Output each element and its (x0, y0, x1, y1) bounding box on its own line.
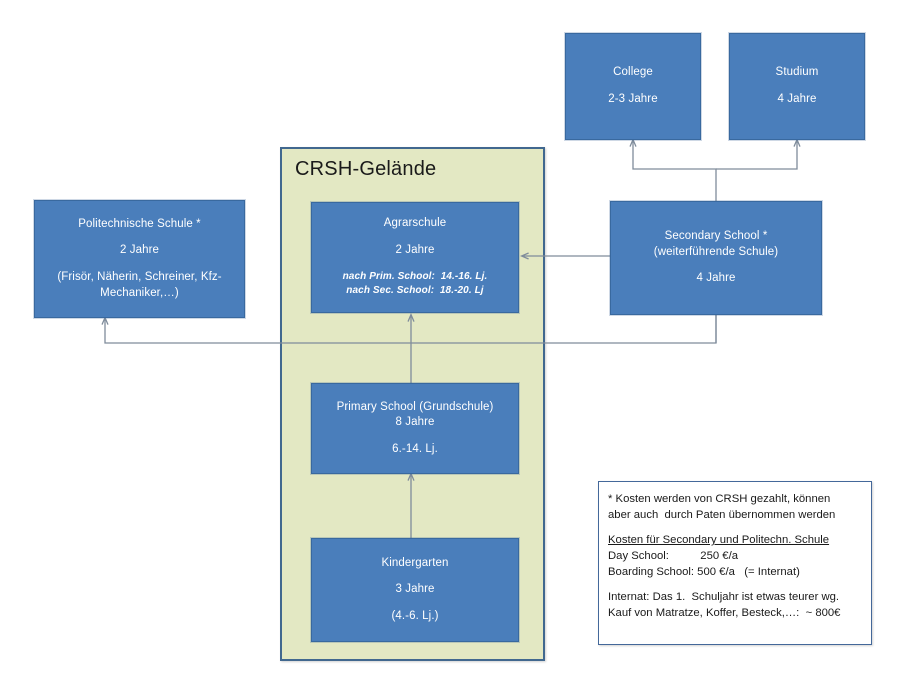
box-primary-school[interactable]: Primary School (Grundschule) 8 Jahre 6.-… (311, 383, 519, 474)
cost-notes-box: * Kosten werden von CRSH gezahlt, können… (598, 481, 872, 645)
boarding-note-line-1: Internat: Das 1. Schuljahr ist etwas teu… (608, 589, 863, 605)
costs-heading: Kosten für Secondary und Politechn. Schu… (608, 532, 863, 548)
primary-school-age-range: 6.-14. Lj. (392, 442, 438, 458)
agrarschule-title: Agrarschule (384, 216, 446, 232)
kindergarten-duration: 3 Jahre (395, 582, 434, 598)
boarding-note-line-2: Kauf von Matratze, Koffer, Besteck,…: ~ … (608, 605, 863, 621)
agrarschule-note-primary: nach Prim. School: 14.-16. Lj. (343, 270, 488, 285)
diagram-canvas: CRSH-Gelände College 2-3 Jahre Studium (0, 0, 900, 675)
politechnische-duration: 2 Jahre (120, 243, 159, 259)
primary-school-title: Primary School (Grundschule) (337, 400, 494, 416)
cost-boarding-school: Boarding School: 500 €/a (= Internat) (608, 564, 863, 580)
kindergarten-age-range: (4.-6. Lj.) (391, 609, 438, 625)
agrarschule-duration: 2 Jahre (395, 243, 434, 259)
footnote-line-2: aber auch durch Paten übernommen werden (608, 507, 863, 523)
box-agrarschule[interactable]: Agrarschule 2 Jahre nach Prim. School: 1… (311, 202, 519, 313)
box-studium[interactable]: Studium 4 Jahre (729, 33, 865, 140)
box-kindergarten[interactable]: Kindergarten 3 Jahre (4.-6. Lj.) (311, 538, 519, 642)
college-duration: 2-3 Jahre (608, 92, 657, 108)
agrarschule-note-secondary: nach Sec. School: 18.-20. Lj (346, 284, 483, 299)
box-secondary-school[interactable]: Secondary School * (weiterführende Schul… (610, 201, 822, 315)
studium-title: Studium (776, 65, 819, 81)
crsh-grounds-title: CRSH-Gelände (295, 158, 436, 181)
secondary-school-subtitle: (weiterführende Schule) (654, 245, 778, 261)
connector-secondary-to-studium (716, 140, 797, 169)
spacer (608, 523, 863, 532)
spacer (608, 580, 863, 589)
footnote-line-1: * Kosten werden von CRSH gezahlt, können (608, 491, 863, 507)
cost-day-school: Day School: 250 €/a (608, 548, 863, 564)
politechnische-title: Politechnische Schule * (78, 217, 200, 233)
kindergarten-title: Kindergarten (381, 556, 448, 572)
secondary-school-title: Secondary School * (665, 229, 768, 245)
politechnische-detail: (Frisör, Näherin, Schreiner, Kfz-Mechani… (41, 270, 238, 301)
secondary-school-duration: 4 Jahre (696, 271, 735, 287)
primary-school-duration: 8 Jahre (395, 415, 434, 431)
box-politechnische-schule[interactable]: Politechnische Schule * 2 Jahre (Frisör,… (34, 200, 245, 318)
box-college[interactable]: College 2-3 Jahre (565, 33, 701, 140)
connector-secondary-to-college (633, 140, 716, 201)
studium-duration: 4 Jahre (777, 92, 816, 108)
college-title: College (613, 65, 653, 81)
